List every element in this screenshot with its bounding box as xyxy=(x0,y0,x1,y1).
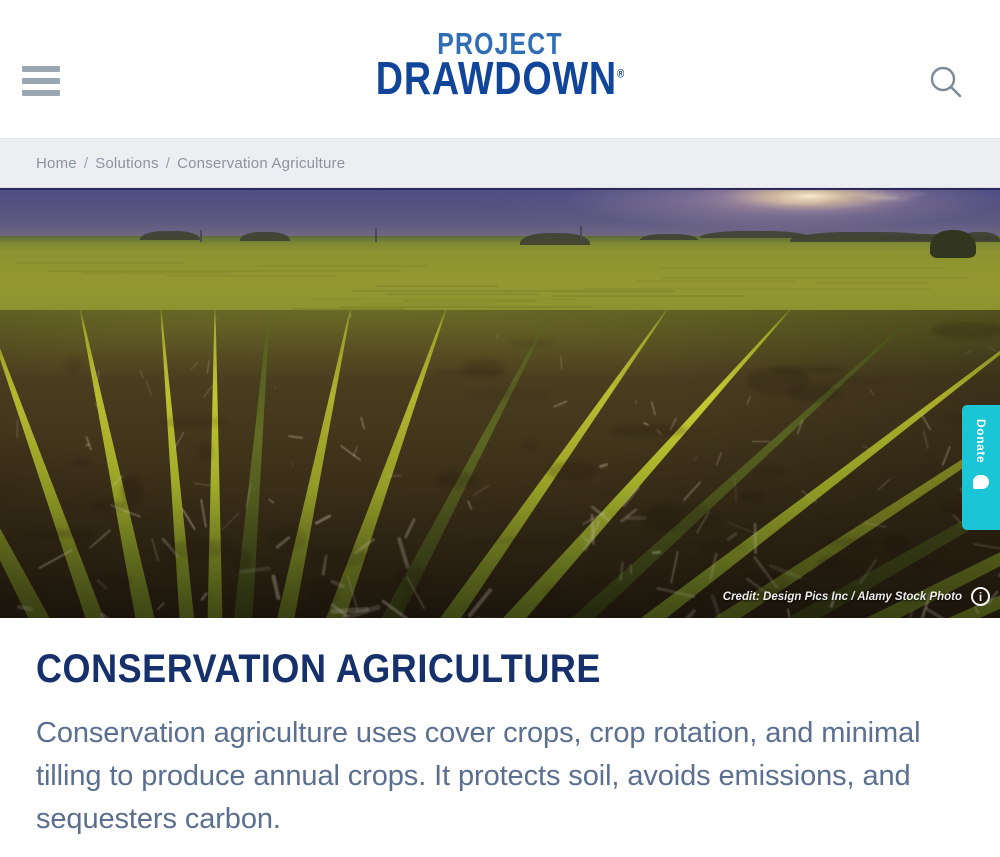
treeline-clump xyxy=(240,232,290,241)
field-furrow xyxy=(16,262,186,264)
crop-residue xyxy=(472,484,489,496)
crop-residue xyxy=(274,385,276,390)
crop-residue xyxy=(752,441,770,442)
crop-residue xyxy=(716,451,722,465)
crop-residue xyxy=(682,481,701,502)
hero-artwork xyxy=(0,190,1000,618)
breadcrumb-item-current: Conservation Agriculture xyxy=(177,155,345,172)
sky-streak xyxy=(750,198,825,200)
soil-shadow xyxy=(611,424,687,437)
breadcrumb-separator-1: / xyxy=(84,155,88,172)
soil-shadow xyxy=(309,578,339,606)
crop-residue xyxy=(207,360,210,374)
field-furrow xyxy=(386,293,538,295)
soil-shadow xyxy=(700,539,748,552)
field-furrow xyxy=(815,282,929,284)
soil-shadow xyxy=(542,586,565,595)
field-furrow xyxy=(375,285,498,287)
page-summary: Conservation agriculture uses cover crop… xyxy=(36,712,964,841)
soil-shadow xyxy=(396,565,426,592)
crop-residue xyxy=(100,612,118,618)
crop-residue xyxy=(288,435,303,439)
crop-residue xyxy=(97,370,99,380)
donate-button[interactable]: Donate xyxy=(962,405,1000,530)
crop-residue xyxy=(340,444,362,461)
soil-shadow xyxy=(308,548,370,567)
breadcrumb-item-solutions[interactable]: Solutions xyxy=(95,155,159,172)
crop-residue xyxy=(746,396,750,405)
soil-shadow xyxy=(72,459,90,466)
crop-row xyxy=(152,310,197,618)
soil-shadow xyxy=(521,440,538,451)
crop-residue xyxy=(271,574,281,600)
page-title: CONSERVATION AGRICULTURE xyxy=(36,648,871,690)
soil-shadow xyxy=(232,549,252,572)
crop-residue xyxy=(291,461,294,466)
crop-residue xyxy=(988,346,998,353)
soil-shadow xyxy=(436,472,476,488)
soil-shadow xyxy=(75,537,95,555)
crop-residue xyxy=(360,416,366,429)
sky-streak xyxy=(866,197,912,200)
field-furrow xyxy=(551,295,744,297)
soil-shadow xyxy=(466,390,547,398)
crop-residue xyxy=(156,602,165,611)
utility-pole xyxy=(580,226,582,242)
crop-residue xyxy=(174,432,185,450)
utility-pole xyxy=(200,230,202,242)
soil-shadow xyxy=(546,462,598,480)
soil-shadow xyxy=(912,560,940,570)
soil-shadow xyxy=(817,556,849,569)
soil-shadow xyxy=(164,540,234,558)
crop-row xyxy=(0,310,65,618)
crop-residue xyxy=(350,313,351,318)
crop-residue xyxy=(670,551,679,584)
crop-residue xyxy=(467,501,473,510)
crop-residue xyxy=(200,591,209,601)
crop-row xyxy=(207,310,223,618)
crop-residue xyxy=(973,543,1000,551)
sky-streak xyxy=(779,201,824,202)
soil-shadow xyxy=(882,534,909,553)
crop-residue xyxy=(598,463,608,468)
breadcrumb-bar: Home / Solutions / Conservation Agricult… xyxy=(0,138,1000,188)
treeline-clump xyxy=(640,234,698,241)
soil-shadow xyxy=(752,466,785,478)
image-credit: Credit: Design Pics Inc / Alamy Stock Ph… xyxy=(723,587,1000,606)
info-icon[interactable]: i xyxy=(971,587,990,606)
crop-residue xyxy=(650,400,656,415)
soil-shadow xyxy=(825,538,879,545)
utility-pole xyxy=(375,228,377,242)
soil-shadow xyxy=(646,505,677,532)
crop-residue xyxy=(754,523,758,554)
crop-residue xyxy=(711,594,722,618)
crop-residue xyxy=(786,608,790,617)
hamburger-menu-icon[interactable] xyxy=(22,66,60,96)
soil-shadow xyxy=(931,322,1000,339)
soil-shadow xyxy=(831,377,892,384)
crop-residue xyxy=(920,412,932,431)
field-furrow xyxy=(636,280,795,282)
crop-residue xyxy=(629,563,632,573)
breadcrumb-separator-2: / xyxy=(166,155,170,172)
breadcrumb: Home / Solutions / Conservation Agricult… xyxy=(36,155,345,172)
hamburger-bar-3 xyxy=(22,90,60,96)
soil-shadow xyxy=(159,416,227,429)
field-furrow xyxy=(660,267,946,269)
crop-residue xyxy=(693,455,698,462)
soil-shadow xyxy=(198,443,213,460)
hamburger-bar-1 xyxy=(22,66,60,72)
crop-residue xyxy=(404,518,416,539)
crop-residue xyxy=(683,608,697,618)
sky-streak xyxy=(879,193,926,195)
soil-shadow xyxy=(491,536,572,544)
donate-label: Donate xyxy=(974,419,988,463)
crop-residue xyxy=(314,514,332,525)
crop-residue xyxy=(189,361,198,370)
treeline-clump xyxy=(140,231,200,240)
logo-text-drawdown: DRAWDOWN® xyxy=(376,57,624,99)
image-credit-text: Credit: Design Pics Inc / Alamy Stock Ph… xyxy=(723,591,962,603)
field-furrow xyxy=(258,265,427,267)
crop-residue xyxy=(269,498,275,503)
hero-image: Credit: Design Pics Inc / Alamy Stock Ph… xyxy=(0,188,1000,618)
crop-residue xyxy=(952,514,962,524)
crop-residue xyxy=(941,446,951,466)
crop-residue xyxy=(200,499,207,528)
horizon-bush xyxy=(930,230,976,258)
donate-heart-icon xyxy=(973,475,989,489)
soil-shadow xyxy=(508,340,555,347)
field-furrow xyxy=(166,275,337,277)
crop-residue xyxy=(17,419,20,438)
crop-residue xyxy=(922,430,929,449)
crop-residue xyxy=(194,482,211,485)
site-header: PROJECT DRAWDOWN® xyxy=(0,0,1000,138)
crop-residue xyxy=(559,355,562,369)
search-icon[interactable] xyxy=(922,58,970,106)
soil-shadow xyxy=(64,356,83,374)
crop-residue xyxy=(870,389,875,397)
soil-shadow xyxy=(404,593,419,618)
soil-shadow xyxy=(158,554,179,572)
soil-shadow xyxy=(97,574,131,588)
crop-residue xyxy=(634,400,637,404)
crop-residue xyxy=(877,478,890,490)
crop-residue xyxy=(221,512,240,531)
logo-trademark: ® xyxy=(617,66,624,80)
hero-crop-field xyxy=(0,310,1000,618)
hamburger-bar-2 xyxy=(22,78,60,84)
crop-residue xyxy=(146,380,152,395)
soil-shadow xyxy=(121,477,143,505)
crop-residue xyxy=(553,400,567,408)
breadcrumb-item-home[interactable]: Home xyxy=(36,155,77,172)
article-body: CONSERVATION AGRICULTURE Conservation ag… xyxy=(0,618,1000,841)
crop-row xyxy=(316,310,460,618)
crop-residue xyxy=(496,334,498,339)
site-logo[interactable]: PROJECT DRAWDOWN® xyxy=(348,30,651,99)
crop-residue xyxy=(203,385,213,398)
crop-residue xyxy=(139,369,144,377)
crop-residue xyxy=(964,350,972,355)
soil-shadow xyxy=(740,491,765,502)
